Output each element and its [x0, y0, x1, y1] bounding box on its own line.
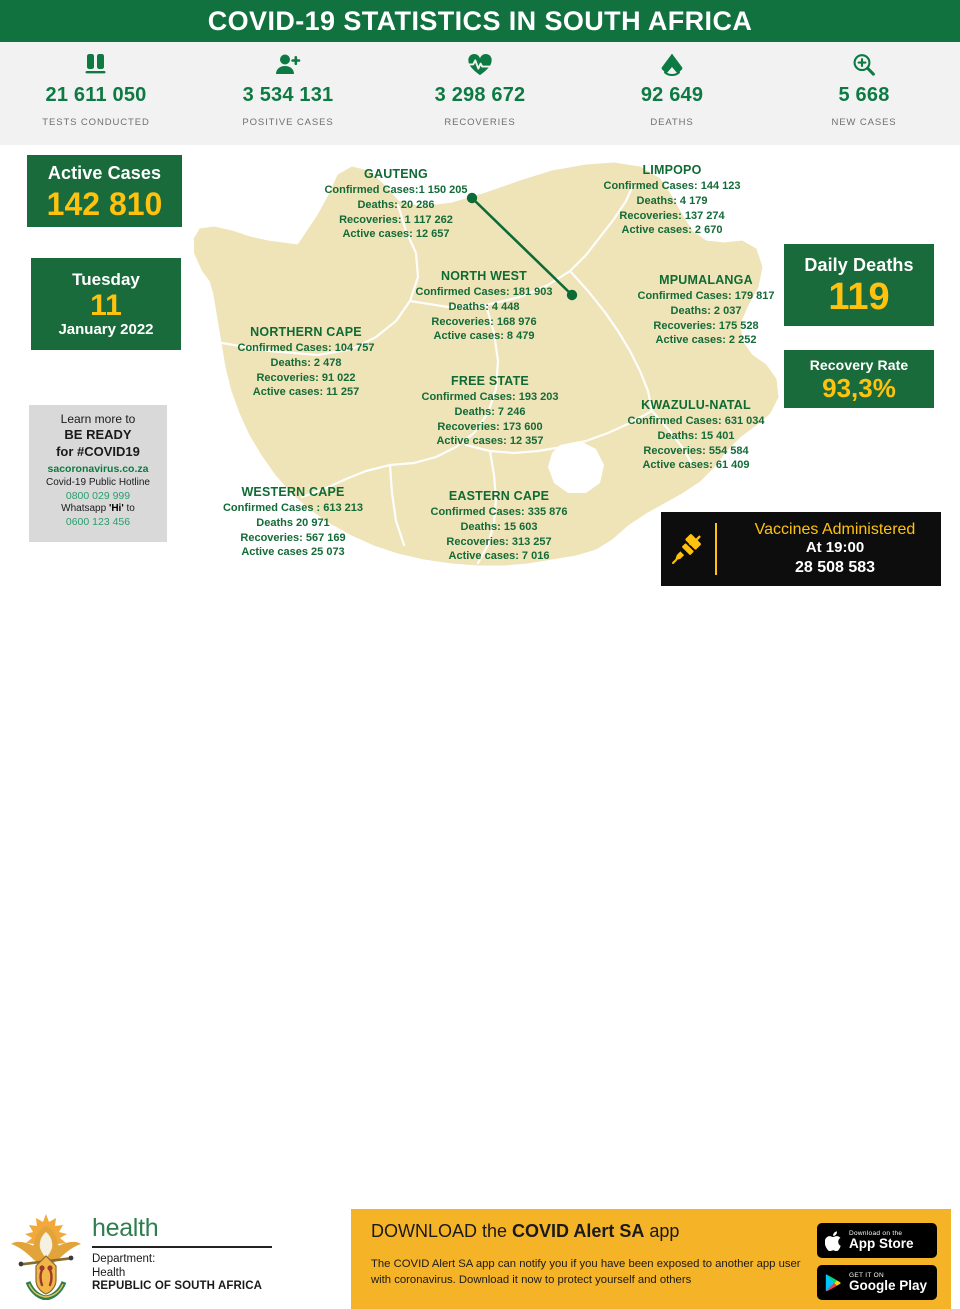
- province-name: EASTERN CAPE: [406, 488, 592, 505]
- province-recoveries: Recoveries: 313 257: [406, 535, 592, 550]
- stat-label: POSITIVE CASES: [242, 117, 333, 128]
- province-recoveries: Recoveries: 168 976: [384, 315, 584, 330]
- province-deaths: Deaths: 2 037: [608, 304, 804, 319]
- banner-copy: DOWNLOAD the COVID Alert SA app The COVI…: [371, 1221, 817, 1309]
- vaccines-title: Vaccines Administered: [729, 520, 941, 539]
- province-deaths: Deaths: 2 478: [216, 356, 396, 371]
- province-recoveries: Recoveries: 137 274: [572, 209, 772, 224]
- province-name: NORTH WEST: [384, 268, 584, 285]
- province-name: NORTHERN CAPE: [216, 324, 396, 341]
- logo-health-line: Health: [92, 1266, 272, 1280]
- test-tubes-icon: [83, 50, 109, 80]
- province-recoveries: Recoveries: 1 117 262: [296, 213, 496, 228]
- province-confirmed: Confirmed Cases: 193 203: [400, 390, 580, 405]
- be-ready-whatsapp-number[interactable]: 0600 123 456: [29, 516, 167, 529]
- whatsapp-pre: Whatsapp: [61, 503, 109, 514]
- stat-value: 3 298 672: [435, 84, 526, 107]
- province-confirmed: Confirmed Cases: 179 817: [608, 289, 804, 304]
- province-recoveries: Recoveries: 175 528: [608, 319, 804, 334]
- stat-value: 3 534 131: [243, 84, 334, 107]
- province-deaths: Deaths: 4 448: [384, 300, 584, 315]
- province-recoveries: Recoveries: 173 600: [400, 420, 580, 435]
- province-block-gauteng: GAUTENG Confirmed Cases:1 150 205 Deaths…: [296, 166, 496, 242]
- province-deaths: Deaths: 20 286: [296, 198, 496, 213]
- banner-headline: DOWNLOAD the COVID Alert SA app: [371, 1221, 817, 1243]
- vaccines-time: At 19:00: [729, 539, 941, 558]
- province-block-eastern-cape: EASTERN CAPE Confirmed Cases: 335 876 De…: [406, 488, 592, 564]
- whatsapp-post: to: [124, 503, 135, 514]
- province-deaths: Deaths: 7 246: [400, 405, 580, 420]
- banner-body-text: The COVID Alert SA app can notify you if…: [371, 1256, 801, 1289]
- date-day-number: 11: [90, 290, 122, 322]
- stat-label: DEATHS: [650, 117, 693, 128]
- active-cases-value: 142 810: [47, 188, 163, 220]
- daily-deaths-title: Daily Deaths: [804, 255, 913, 276]
- province-active: Active cases 25 073: [200, 545, 386, 560]
- province-name: LIMPOPO: [572, 162, 772, 179]
- coat-of-arms-icon: [8, 1208, 84, 1300]
- person-plus-icon: [274, 50, 302, 80]
- page-title-bar: COVID-19 STATISTICS IN SOUTH AFRICA: [0, 0, 960, 42]
- infographic-root: COVID-19 STATISTICS IN SOUTH AFRICA 21 6…: [0, 0, 960, 720]
- google-play-label-group: GET IT ON Google Play: [849, 1272, 927, 1294]
- national-stats-strip: 21 611 050 TESTS CONDUCTED 3 534 131 POS…: [0, 42, 960, 145]
- stat-deaths: 92 649 DEATHS: [576, 42, 768, 145]
- praying-hands-icon: [659, 50, 685, 80]
- recovery-rate-value: 93,3%: [822, 375, 896, 401]
- province-block-north-west: NORTH WEST Confirmed Cases: 181 903 Deat…: [384, 268, 584, 344]
- province-active: Active cases: 61 409: [604, 458, 788, 473]
- daily-deaths-value: 119: [828, 278, 889, 316]
- province-deaths: Deaths 20 971: [200, 516, 386, 531]
- province-confirmed: Confirmed Cases: 181 903: [384, 285, 584, 300]
- stat-positive-cases: 3 534 131 POSITIVE CASES: [192, 42, 384, 145]
- province-confirmed: Confirmed Cases: 104 757: [216, 341, 396, 356]
- logo-republic-line: REPUBLIC OF SOUTH AFRICA: [92, 1280, 272, 1292]
- logo-text-block: health Department: Health REPUBLIC OF SO…: [92, 1208, 272, 1292]
- be-ready-line1: Learn more to: [61, 412, 136, 426]
- province-recoveries: Recoveries: 91 022: [216, 371, 396, 386]
- page-title: COVID-19 STATISTICS IN SOUTH AFRICA: [208, 6, 753, 37]
- be-ready-hotline-number[interactable]: 0800 029 999: [29, 490, 167, 503]
- be-ready-website-link[interactable]: sacoronavirus.co.za: [29, 463, 167, 476]
- department-of-health-logo: health Department: Health REPUBLIC OF SO…: [8, 1208, 272, 1300]
- footer: health Department: Health REPUBLIC OF SO…: [0, 600, 960, 720]
- active-cases-panel: Active Cases 142 810: [27, 155, 182, 227]
- vaccines-divider: [715, 523, 717, 575]
- be-ready-line2: BE READY: [29, 427, 167, 444]
- province-active: Active cases: 2 670: [572, 223, 772, 238]
- recovery-rate-title: Recovery Rate: [810, 357, 909, 373]
- province-block-northern-cape: NORTHERN CAPE Confirmed Cases: 104 757 D…: [216, 324, 396, 400]
- province-name: KWAZULU-NATAL: [604, 397, 788, 414]
- store-badges: Download on the App Store GE: [817, 1221, 937, 1309]
- be-ready-info-box: Learn more to BE READY for #COVID19 saco…: [29, 405, 167, 542]
- heartbeat-icon: [466, 50, 494, 80]
- vaccines-text-group: Vaccines Administered At 19:00 28 508 58…: [729, 520, 941, 578]
- stat-new-cases: 5 668 NEW CASES: [768, 42, 960, 145]
- date-day-of-week: Tuesday: [72, 270, 140, 290]
- be-ready-hotline-label: Covid-19 Public Hotline: [29, 477, 167, 490]
- daily-deaths-panel: Daily Deaths 119: [784, 244, 934, 326]
- recovery-rate-panel: Recovery Rate 93,3%: [784, 350, 934, 408]
- province-confirmed: Confirmed Cases: 144 123: [572, 179, 772, 194]
- vaccines-count: 28 508 583: [729, 558, 941, 578]
- download-app-banner: DOWNLOAD the COVID Alert SA app The COVI…: [351, 1209, 951, 1309]
- province-recoveries: Recoveries: 554 584: [604, 444, 788, 459]
- google-play-logo-icon: [825, 1273, 842, 1292]
- province-block-kwazulu-natal: KWAZULU-NATAL Confirmed Cases: 631 034 D…: [604, 397, 788, 473]
- google-play-top-label: GET IT ON: [849, 1272, 927, 1279]
- stat-tests-conducted: 21 611 050 TESTS CONDUCTED: [0, 42, 192, 145]
- province-confirmed: Confirmed Cases: 335 876: [406, 505, 592, 520]
- province-block-limpopo: LIMPOPO Confirmed Cases: 144 123 Deaths:…: [572, 162, 772, 238]
- app-store-button[interactable]: Download on the App Store: [817, 1223, 937, 1258]
- province-active: Active cases: 8 479: [384, 329, 584, 344]
- stat-label: NEW CASES: [831, 117, 896, 128]
- be-ready-whatsapp-label: Whatsapp 'Hi' to: [29, 503, 167, 516]
- be-ready-line3: for #COVID19: [29, 444, 167, 461]
- province-active: Active cases: 11 257: [216, 385, 396, 400]
- banner-head-pre: DOWNLOAD the: [371, 1221, 512, 1241]
- logo-rule: [92, 1246, 272, 1248]
- banner-head-bold: COVID Alert SA: [512, 1221, 644, 1241]
- province-block-mpumalanga: MPUMALANGA Confirmed Cases: 179 817 Deat…: [608, 272, 804, 348]
- province-active: Active cases: 12 357: [400, 434, 580, 449]
- app-store-label-group: Download on the App Store: [849, 1230, 914, 1252]
- province-block-western-cape: WESTERN CAPE Confirmed Cases : 613 213 D…: [200, 484, 386, 560]
- date-panel: Tuesday 11 January 2022: [31, 258, 181, 350]
- apple-logo-icon: [825, 1231, 842, 1251]
- stat-recoveries: 3 298 672 RECOVERIES: [384, 42, 576, 145]
- stat-value: 5 668: [838, 84, 889, 107]
- stat-value: 21 611 050: [46, 84, 147, 107]
- vaccines-administered-panel: Vaccines Administered At 19:00 28 508 58…: [661, 512, 941, 586]
- province-active: Active cases: 2 252: [608, 333, 804, 348]
- app-store-main-label: App Store: [849, 1237, 914, 1252]
- province-deaths: Deaths: 15 401: [604, 429, 788, 444]
- syringe-icon: [661, 532, 715, 566]
- province-recoveries: Recoveries: 567 169: [200, 531, 386, 546]
- province-name: FREE STATE: [400, 373, 580, 390]
- whatsapp-hi: 'Hi': [109, 503, 124, 514]
- stat-label: RECOVERIES: [444, 117, 515, 128]
- province-deaths: Deaths: 4 179: [572, 194, 772, 209]
- province-active: Active cases: 12 657: [296, 227, 496, 242]
- google-play-button[interactable]: GET IT ON Google Play: [817, 1265, 937, 1300]
- province-block-free-state: FREE STATE Confirmed Cases: 193 203 Deat…: [400, 373, 580, 449]
- logo-department-line: Department:: [92, 1252, 272, 1266]
- active-cases-title: Active Cases: [48, 163, 161, 184]
- province-deaths: Deaths: 15 603: [406, 520, 592, 535]
- province-name: WESTERN CAPE: [200, 484, 386, 501]
- google-play-main-label: Google Play: [849, 1279, 927, 1294]
- banner-head-post: app: [644, 1221, 679, 1241]
- province-name: MPUMALANGA: [608, 272, 804, 289]
- province-confirmed: Confirmed Cases : 613 213: [200, 501, 386, 516]
- province-confirmed: Confirmed Cases: 631 034: [604, 414, 788, 429]
- logo-health-word: health: [92, 1216, 272, 1241]
- province-confirmed: Confirmed Cases:1 150 205: [296, 183, 496, 198]
- app-store-top-label: Download on the: [849, 1230, 914, 1237]
- date-month-year: January 2022: [58, 321, 153, 338]
- stat-value: 92 649: [641, 84, 703, 107]
- magnifier-plus-icon: [851, 50, 877, 80]
- province-active: Active cases: 7 016: [406, 549, 592, 564]
- stat-label: TESTS CONDUCTED: [42, 117, 149, 128]
- province-name: GAUTENG: [296, 166, 496, 183]
